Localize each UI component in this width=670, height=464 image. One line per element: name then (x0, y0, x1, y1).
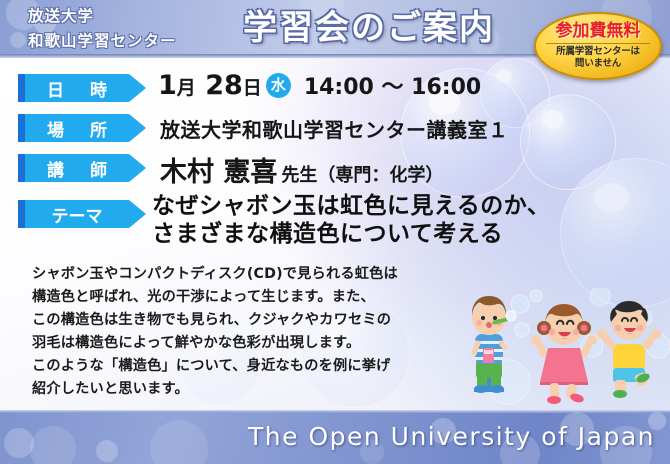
value-lecturer: 木村 憲喜先生（専門：化学） (160, 150, 443, 189)
description-line-2: 構造色と呼ばれ、光の干渉によって生じます。また、 (32, 286, 472, 309)
badge-main-label: 参加費無料 (536, 21, 660, 41)
organization-line-2: 和歌山学習センター (28, 29, 177, 54)
label-place-char-2: 所 (90, 116, 107, 141)
value-datetime: 1月 28日水14:00 ～ 16:00 (158, 69, 481, 101)
lecturer-name: 木村 憲喜 (160, 157, 277, 188)
label-lecturer: 講 師 (18, 154, 146, 182)
label-place-char-1: 場 (47, 116, 64, 141)
footer-brand-text: The Open University of Japan (248, 422, 655, 451)
description-line-1: シャボン玉やコンパクトディスク(CD)で見られる虹色は (32, 263, 472, 286)
label-datetime-text: 日 時 (25, 74, 129, 102)
event-day-unit: 日 (243, 77, 262, 99)
label-arrow-icon (129, 74, 146, 102)
bubble-decoration-icon (150, 420, 208, 464)
label-theme-label: テーマ (52, 202, 103, 227)
label-place-text: 場 所 (25, 114, 129, 142)
theme-line-2: さまざまな構造色について考える (152, 220, 550, 248)
poster-footer: The Open University of Japan (0, 410, 670, 464)
value-theme: なぜシャボン玉は虹色に見えるのか、 さまざまな構造色について考える (152, 192, 550, 248)
page-title: 学習会のご案内 (243, 2, 495, 54)
bubble-decoration-icon (30, 426, 76, 464)
event-month-unit: 月 (177, 77, 196, 99)
badge-sub-line-1: 所属学習センターは (536, 46, 660, 58)
badge-divider (546, 43, 650, 44)
value-place: 放送大学和歌山学習センター講義室１ (160, 114, 509, 143)
label-datetime-char-1: 日 (47, 76, 64, 101)
bubble-decoration-icon (10, 32, 26, 48)
label-datetime-char-2: 時 (90, 76, 107, 101)
lecturer-title-speciality: 先生（専門：化学） (281, 165, 443, 186)
label-lecturer-text: 講 師 (25, 154, 129, 182)
label-accent-bar (18, 114, 25, 142)
child-center (531, 304, 597, 404)
label-arrow-icon (129, 114, 146, 142)
label-accent-bar (18, 74, 25, 102)
event-weekday-badge: 水 (266, 73, 291, 98)
label-accent-bar (18, 200, 25, 228)
poster-root: 放送大学 和歌山学習センター 学習会のご案内 参加費無料 所属学習センターは 問… (0, 0, 670, 464)
bubble-decoration-icon (96, 440, 118, 462)
description-line-6: 紹介したいと思います。 (32, 378, 472, 401)
label-datetime: 日 時 (18, 74, 146, 102)
event-day: 28 (205, 70, 243, 101)
label-arrow-icon (129, 154, 146, 182)
label-arrow-icon (129, 200, 146, 228)
badge-sub-line-2: 問いません (536, 58, 660, 70)
children-illustration (462, 288, 670, 406)
theme-line-1: なぜシャボン玉は虹色に見えるのか、 (152, 192, 550, 220)
label-theme: テーマ (18, 200, 146, 228)
description-line-4: 羽毛は構造色によって鮮やかな色彩が出現します。 (32, 332, 472, 355)
description-paragraph: シャボン玉やコンパクトディスク(CD)で見られる虹色は 構造色と呼ばれ、光の干渉… (32, 263, 472, 401)
organization-line-1: 放送大学 (28, 4, 177, 29)
label-accent-bar (18, 154, 25, 182)
description-line-3: この構造色は生き物でも見られ、クジャクやカワセミの (32, 309, 472, 332)
label-theme-text: テーマ (25, 200, 129, 228)
event-month: 1 (158, 70, 177, 101)
description-line-5: このような「構造色」について、身近なものを例に挙げ (32, 355, 472, 378)
organization-name: 放送大学 和歌山学習センター (28, 4, 177, 54)
free-admission-badge: 参加費無料 所属学習センターは 問いません (534, 12, 662, 80)
label-lecturer-char-1: 講 (47, 156, 64, 181)
label-place: 場 所 (18, 114, 146, 142)
label-lecturer-char-2: 師 (90, 156, 107, 181)
event-time: 14:00 ～ 16:00 (304, 75, 481, 100)
